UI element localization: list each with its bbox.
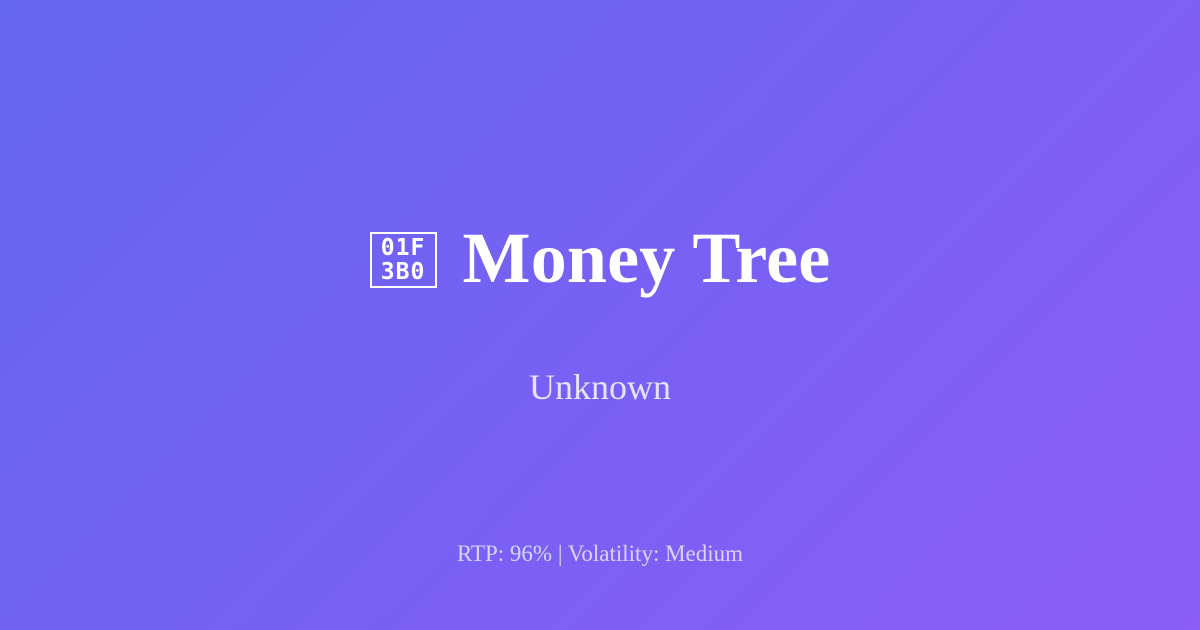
- slot-machine-icon: 01F 3B0: [370, 232, 437, 288]
- og-preview-card: 01F 3B0 Money Tree Unknown RTP: 96% | Vo…: [0, 0, 1200, 630]
- page-title: Money Tree: [463, 221, 831, 297]
- tofu-codepoint-row-bottom: 3B0: [381, 260, 426, 284]
- title-row: 01F 3B0 Money Tree: [330, 221, 871, 297]
- game-provider-subtitle: Unknown: [529, 366, 671, 409]
- game-stats-line: RTP: 96% | Volatility: Medium: [0, 540, 1200, 568]
- tofu-codepoint-row-top: 01F: [381, 236, 426, 260]
